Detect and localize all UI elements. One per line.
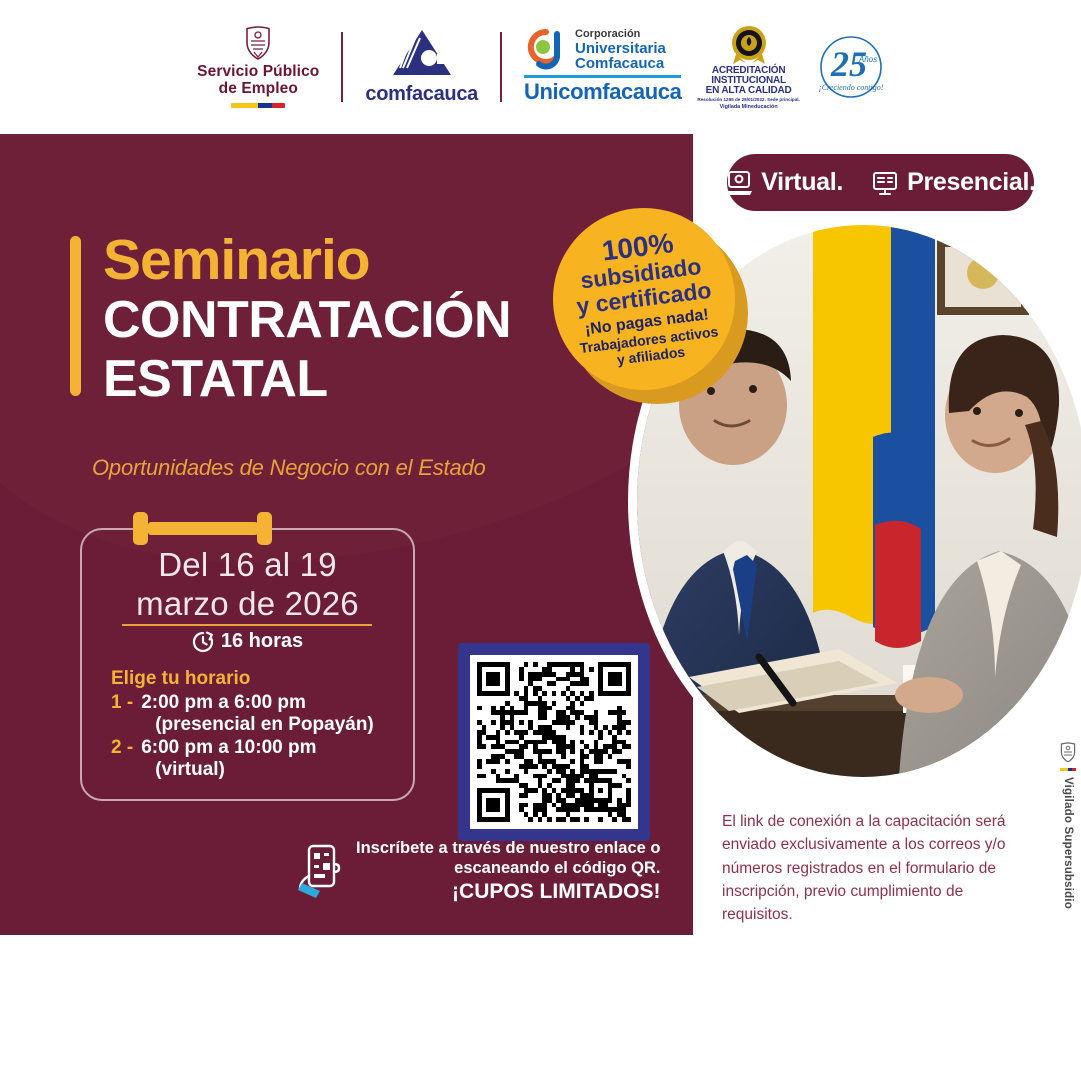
uni-word-2: Universitaria: [575, 41, 666, 57]
poster-root: Servicio Público de Empleo comfacauca: [0, 0, 1081, 1081]
svg-text:Años: Años: [858, 55, 877, 64]
qr-code-icon[interactable]: [477, 662, 631, 822]
spe-line-2: de Empleo: [197, 80, 319, 97]
spe-line-1: Servicio Público: [197, 63, 319, 80]
calendar-ring-left: [133, 512, 148, 545]
hero-title-line-2: ESTATAL: [103, 352, 511, 407]
logo-servicio-publico-empleo: Servicio Público de Empleo: [197, 26, 319, 108]
colombia-flag-bar: [1060, 768, 1076, 771]
option-1-mode: (presencial en Popayán): [141, 714, 374, 736]
modality-virtual-label: Virtual.: [761, 168, 843, 197]
schedule-dates: Del 16 al 19 marzo de 2026: [80, 546, 415, 624]
modality-virtual: Virtual.: [725, 168, 843, 197]
calendar-ring-right: [257, 512, 272, 545]
title-accent-bar: [70, 236, 81, 396]
schedule-option-2: 2 - 6:00 pm a 10:00 pm (virtual): [111, 737, 317, 781]
clock-icon: [192, 631, 214, 653]
comfacauca-logo-icon: [389, 28, 455, 80]
calendar-rings: [80, 512, 415, 546]
registration-highlight: ¡CUPOS LIMITADOS!: [356, 880, 660, 904]
unicomfacauca-logo-icon: [524, 28, 568, 72]
unicomfacauca-wordmark: Unicomfacauca: [524, 79, 681, 105]
presentation-board-icon: [871, 170, 899, 196]
modality-presencial-label: Presencial.: [907, 168, 1036, 197]
schedule-choose-label: Elige tu horario: [111, 668, 250, 690]
schedule-date-line-2: marzo de 2026: [80, 585, 415, 624]
accreditation-seal-icon: [726, 24, 772, 66]
header-divider-1: [341, 32, 343, 102]
svg-text:¡Creciendo contigo!: ¡Creciendo contigo!: [818, 83, 883, 92]
schedule-rule: [122, 624, 372, 626]
registration-line-2: escaneando el código QR.: [356, 858, 660, 878]
hero-subtitle: Oportunidades de Negocio con el Estado: [92, 455, 486, 481]
svg-text:25: 25: [830, 44, 867, 84]
acr-fineprint-1: Resolución 1265 de 28/01/2022. Sede prin…: [697, 97, 799, 103]
25-years-badge-icon: 25 Años ¡Creciendo contigo!: [818, 34, 884, 100]
modality-presencial: Presencial.: [871, 168, 1036, 197]
qr-code-quiet-zone: [470, 655, 638, 829]
uni-word-1: Corporación: [575, 29, 666, 40]
logo-comfacauca: comfacauca: [365, 28, 478, 106]
colombia-shield-icon: [1059, 742, 1077, 762]
registration-line-1: Inscríbete a través de nuestro enlace o: [356, 838, 660, 858]
schedule-duration: 16 horas: [80, 630, 415, 653]
option-2-number: 2 -: [111, 737, 133, 781]
modality-pill: Virtual. Presencial.: [727, 154, 1034, 211]
colombia-flag-bar: [231, 103, 285, 108]
option-1-number: 1 -: [111, 692, 133, 736]
vigilado-supersubsidio: Vigilado Supersubsidio: [1059, 742, 1077, 909]
qr-code-container[interactable]: [458, 643, 650, 841]
webcam-laptop-icon: [725, 170, 753, 196]
vigilado-label: Vigilado Supersubsidio: [1062, 777, 1074, 909]
header-logo-bar: Servicio Público de Empleo comfacauca: [0, 0, 1081, 134]
logo-acreditacion: ACREDITACIÓN INSTITUCIONAL EN ALTA CALID…: [697, 24, 799, 110]
header-divider-2: [500, 32, 502, 102]
footer: www.comfacauca.com Informes: 310 213 094…: [0, 935, 1081, 1081]
hero-title-block: Seminario CONTRATACIÓN ESTATAL: [70, 232, 511, 407]
uni-word-3: Comfacauca: [575, 56, 666, 72]
comfacauca-wordmark: comfacauca: [365, 83, 478, 106]
option-2-time: 6:00 pm a 10:00 pm: [141, 737, 316, 759]
schedule-duration-label: 16 horas: [221, 630, 303, 653]
schedule-option-1: 1 - 2:00 pm a 6:00 pm (presencial en Pop…: [111, 692, 374, 736]
registration-callout: Inscríbete a través de nuestro enlace o …: [296, 838, 660, 904]
acr-line-3: EN ALTA CALIDAD: [706, 86, 792, 96]
option-1-time: 2:00 pm a 6:00 pm: [141, 692, 374, 714]
connection-disclaimer: El link de conexión a la capacitación se…: [722, 810, 1022, 926]
schedule-date-line-1: Del 16 al 19: [80, 546, 415, 585]
acr-fineprint-2: Vigilada Mineducación: [720, 104, 778, 110]
logo-25-anniversary: 25 Años ¡Creciendo contigo!: [818, 34, 884, 100]
logo-unicomfacauca: Corporación Universitaria Comfacauca Uni…: [524, 28, 681, 105]
hero-eyebrow: Seminario: [103, 232, 511, 289]
hand-phone-scan-icon: [296, 842, 342, 900]
hero-title-line-1: CONTRATACIÓN: [103, 293, 511, 348]
unicomfacauca-rule: [524, 75, 681, 78]
option-2-mode: (virtual): [141, 759, 316, 781]
colombia-shield-icon: [243, 26, 273, 60]
calendar-ring-bar: [148, 522, 258, 535]
